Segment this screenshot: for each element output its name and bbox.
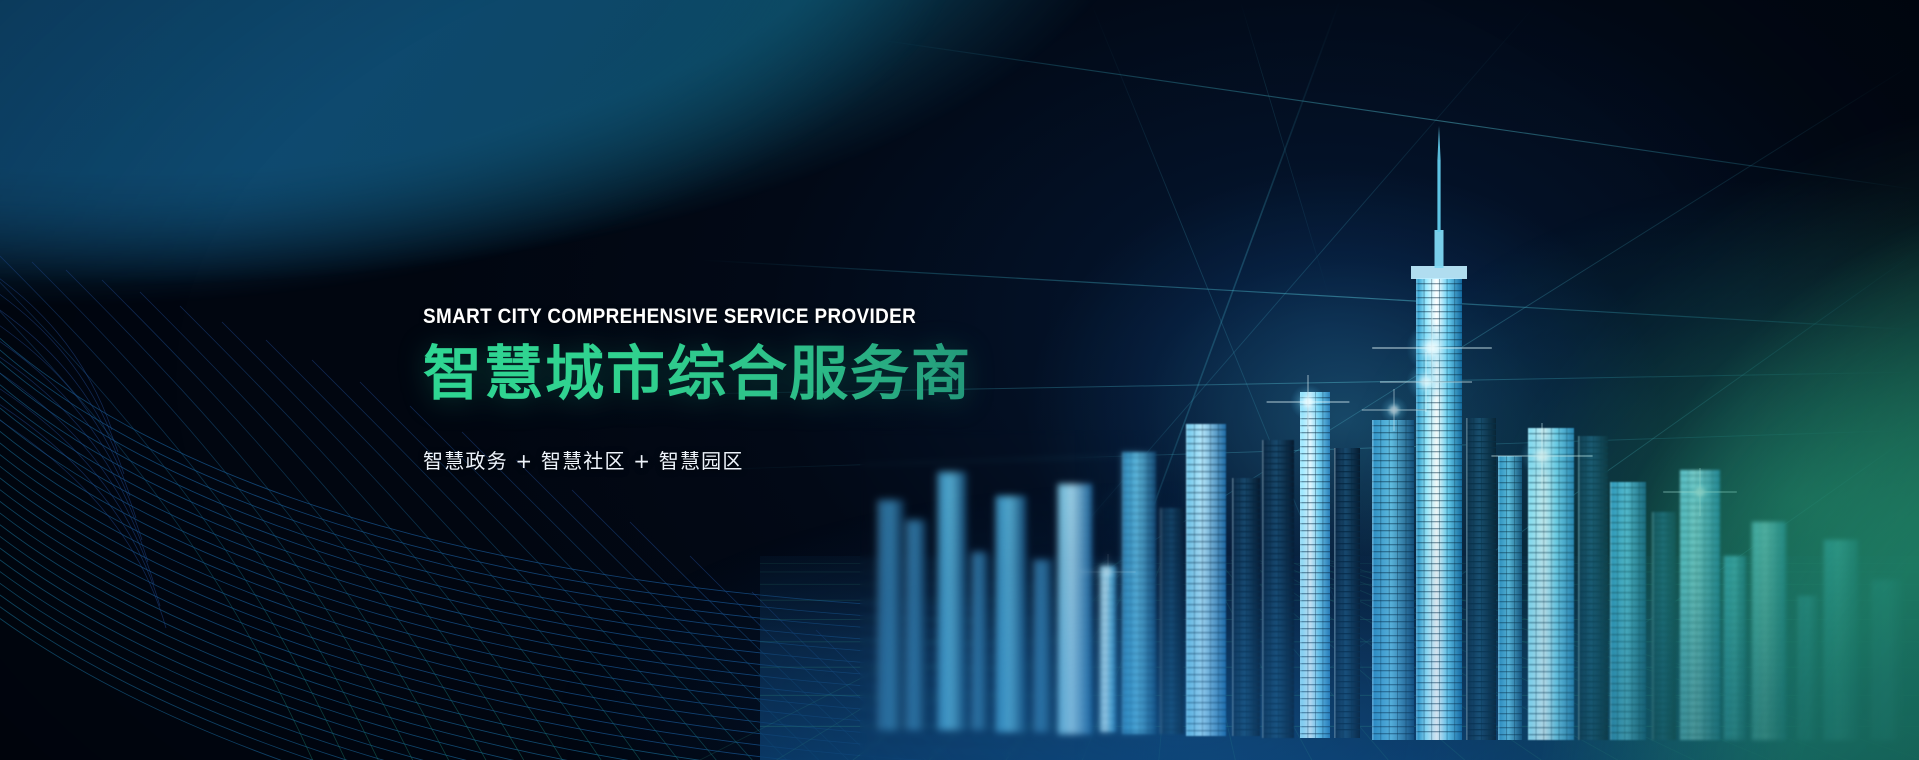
tower-mid-9 — [1122, 452, 1156, 734]
bar-left-7 — [1058, 484, 1092, 734]
ground-grid-column — [1314, 560, 1919, 760]
ground-grid-column — [1217, 560, 1388, 760]
tower-dark-18 — [1466, 418, 1496, 740]
tower-dark-21 — [1578, 436, 1608, 740]
tower-round-22 — [1610, 482, 1646, 740]
ground-grid-column — [1082, 560, 1162, 760]
beam-cross-right-a — [1200, 250, 1919, 760]
tower-center-16 — [1372, 420, 1414, 740]
beam-long-horizontal-upper — [880, 40, 1919, 190]
bar-right-25 — [1724, 556, 1746, 740]
tower-slab-11 — [1186, 424, 1226, 736]
tower-dark-23 — [1652, 512, 1676, 740]
ground-grid-column — [1300, 560, 1847, 760]
bar-right-28 — [1824, 540, 1858, 740]
ground-grid-column — [1273, 560, 1695, 760]
tower-slab-20 — [1528, 428, 1574, 740]
tower-grid-13 — [1262, 440, 1294, 738]
ground-grid-column — [700, 560, 1094, 760]
beam-short-top — [1240, 0, 1330, 300]
ground-grid-column — [1231, 560, 1464, 760]
lens-flare-slab — [1362, 389, 1426, 431]
tower-blue-19 — [1498, 456, 1522, 740]
lens-flare-white-tower — [1267, 375, 1350, 429]
ground-grid-column — [1286, 560, 1770, 760]
bar-left-5 — [996, 496, 1026, 732]
tower-mid-10 — [1160, 508, 1184, 734]
tagline-services: 智慧政务 + 智慧社区 + 智慧园区 — [423, 445, 1183, 474]
tower-dark-12 — [1232, 478, 1260, 736]
smart-city-hero-banner: SMART CITY COMPREHENSIVE SERVICE PROVIDE… — [0, 0, 1919, 760]
bar-left-6 — [1034, 560, 1052, 732]
lens-flare-hero-upper — [1372, 309, 1492, 387]
ground-grid-column — [1259, 560, 1618, 760]
hero-copy-block: SMART CITY COMPREHENSIVE SERVICE PROVIDE… — [423, 306, 1183, 474]
tower-white-14 — [1300, 392, 1330, 738]
ground-grid-column — [776, 560, 1107, 760]
bar-right-29 — [1872, 580, 1902, 740]
bar-left-8 — [1100, 566, 1116, 732]
lens-flare-right-slab — [1491, 423, 1592, 489]
ground-grid-column — [1328, 560, 1919, 760]
bar-far-left-4 — [972, 552, 988, 730]
ground-grid-column — [1006, 560, 1149, 760]
ground-grid-column — [1190, 560, 1235, 760]
beam-cross-right-b — [1450, 430, 1919, 760]
tower-dark-15 — [1334, 448, 1360, 738]
bar-far-left-3 — [938, 472, 966, 730]
ground-grid-column — [1159, 560, 1176, 760]
ground-grid-column — [853, 560, 1121, 760]
depth-of-field-blur-left — [860, 430, 1190, 760]
bar-right-26 — [1752, 522, 1786, 740]
eyebrow-english-subtitle: SMART CITY COMPREHENSIVE SERVICE PROVIDE… — [423, 306, 1092, 328]
tower-slab-24 — [1680, 470, 1720, 740]
tower-hero-spire — [1411, 126, 1467, 740]
ground-grid-column — [1204, 560, 1312, 760]
ground-grid-column — [929, 560, 1134, 760]
page-title-headline: 智慧城市综合服务商 — [423, 342, 1183, 406]
bar-far-left-2 — [906, 520, 926, 730]
lens-flare-right-edge — [1663, 468, 1737, 516]
bar-right-27 — [1798, 596, 1818, 740]
ground-grid-column — [1245, 560, 1541, 760]
lens-flare-mid-bar — [1080, 554, 1135, 590]
lens-flare-hero-lower — [1380, 352, 1472, 412]
bar-far-left-1 — [878, 500, 904, 730]
